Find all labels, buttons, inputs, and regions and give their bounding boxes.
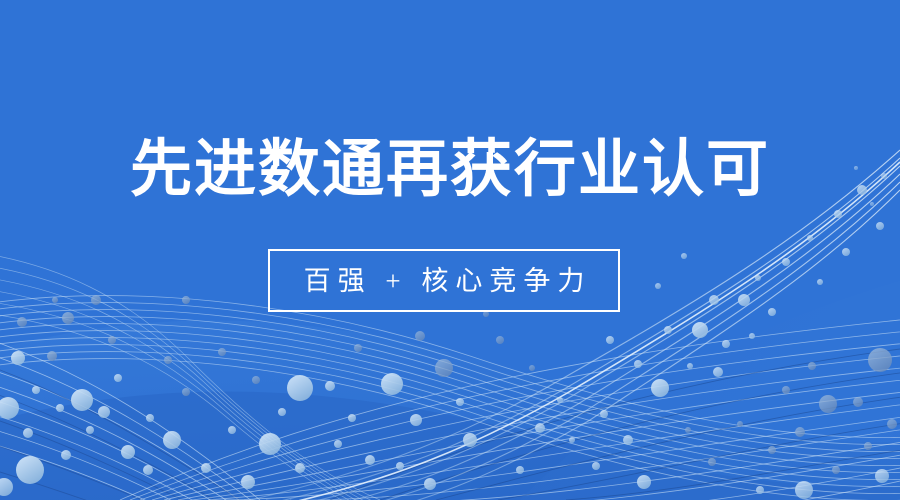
page-title: 先进数通再获行业认可 xyxy=(0,133,900,207)
banner-content: 先进数通再获行业认可 百强 + 核心竞争力 xyxy=(0,0,900,500)
promo-banner: 先进数通再获行业认可 百强 + 核心竞争力 xyxy=(0,0,900,500)
subtitle-badge: 百强 + 核心竞争力 xyxy=(268,249,620,312)
subtitle-label: 百强 + 核心竞争力 xyxy=(297,266,592,296)
